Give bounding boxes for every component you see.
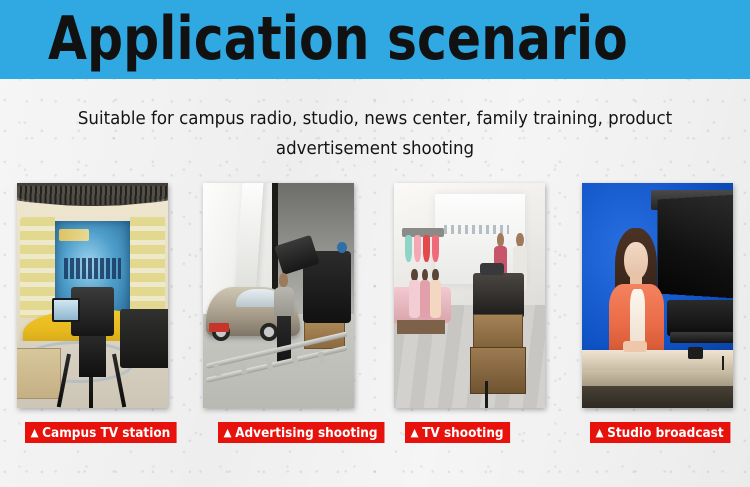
gallery-item-tv-shooting[interactable] xyxy=(394,183,545,408)
caption-studio-broadcast: ▲Studio broadcast xyxy=(590,422,730,443)
triangle-marker-icon: ▲ xyxy=(31,422,39,443)
triangle-marker-icon: ▲ xyxy=(596,422,604,443)
page-banner: Application scenario xyxy=(0,0,750,79)
photo-studio-broadcast xyxy=(582,183,733,408)
page-title: Application scenario xyxy=(48,8,628,68)
caption-label: Campus TV station xyxy=(42,426,170,441)
photo-tv-shooting xyxy=(394,183,545,408)
caption-tv-shooting: ▲TV shooting xyxy=(405,422,510,443)
gallery-item-campus-tv-station[interactable] xyxy=(17,183,168,408)
photo-advertising-shooting xyxy=(203,183,354,408)
gallery-item-advertising-shooting[interactable] xyxy=(203,183,354,408)
caption-campus-tv-station: ▲Campus TV station xyxy=(25,422,177,443)
caption-advertising-shooting: ▲Advertising shooting xyxy=(218,422,384,443)
triangle-marker-icon: ▲ xyxy=(411,422,419,443)
scenario-gallery: ▲Campus TV station xyxy=(0,183,750,443)
subtitle-line-1: Suitable for campus radio, studio, news … xyxy=(19,104,732,134)
caption-label: Advertising shooting xyxy=(235,426,377,441)
caption-label: TV shooting xyxy=(422,426,503,441)
photo-campus-tv-station xyxy=(17,183,168,408)
subtitle-line-2: advertisement shooting xyxy=(19,134,732,164)
triangle-marker-icon: ▲ xyxy=(224,422,232,443)
application-scenario-page: Application scenario Suitable for campus… xyxy=(0,0,750,487)
gallery-item-studio-broadcast[interactable] xyxy=(582,183,733,408)
subtitle-block: Suitable for campus radio, studio, news … xyxy=(19,104,732,164)
caption-label: Studio broadcast xyxy=(607,426,723,441)
